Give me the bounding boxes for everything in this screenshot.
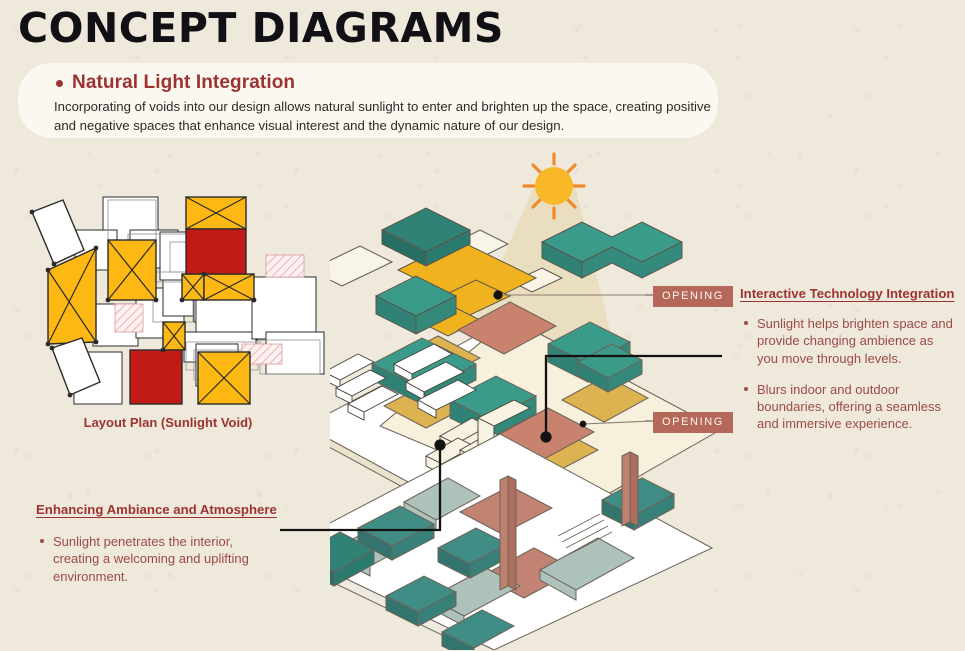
layout-plan-caption: Layout Plan (Sunlight Void) <box>8 415 328 430</box>
list-item: Sunlight penetrates the interior, creati… <box>53 533 276 585</box>
badge-opening-mid[interactable]: OPENING <box>653 412 733 433</box>
annotation-right-title: Interactive Technology Integration <box>740 286 955 301</box>
annotation-left: Enhancing Ambiance and Atmosphere Sunlig… <box>36 502 276 599</box>
page-title: CONCEPT DIAGRAMS <box>18 4 504 52</box>
header-body-text: Incorporating of voids into our design a… <box>54 98 719 135</box>
layout-plan-drawing <box>8 192 328 407</box>
annotation-left-title: Enhancing Ambiance and Atmosphere <box>36 502 276 517</box>
annotation-right: Interactive Technology Integration Sunli… <box>740 286 955 447</box>
annotation-left-list: Sunlight penetrates the interior, creati… <box>36 533 276 585</box>
list-item: Sunlight helps brighten space and provid… <box>757 315 955 367</box>
natural-light-header-card: Natural Light Integration Incorporating … <box>18 63 718 138</box>
list-item: Blurs indoor and outdoor boundaries, off… <box>757 381 955 433</box>
annotation-right-list: Sunlight helps brighten space and provid… <box>740 315 955 433</box>
sun-icon <box>524 154 584 218</box>
badge-opening-top[interactable]: OPENING <box>653 286 733 307</box>
header-title-row: Natural Light Integration <box>56 72 295 94</box>
header-title: Natural Light Integration <box>72 72 295 94</box>
bullet-dot-icon <box>56 80 63 87</box>
